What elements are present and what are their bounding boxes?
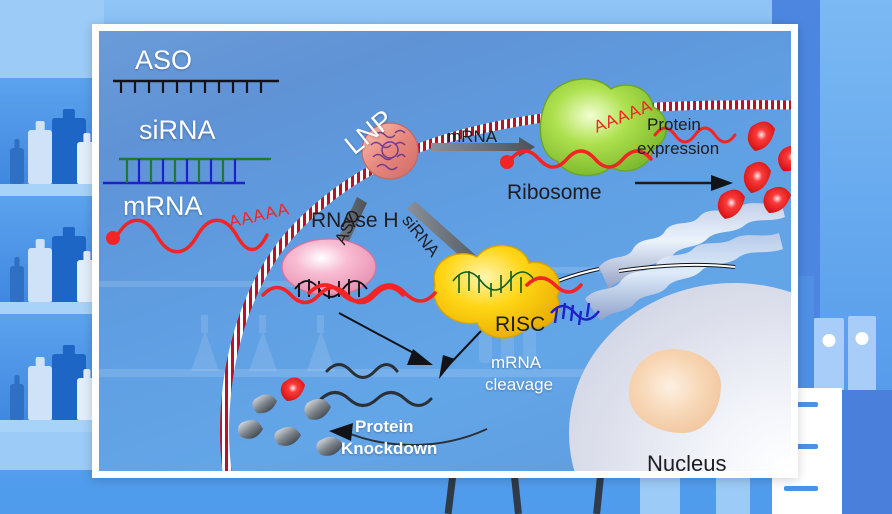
- protein-expression-label-line1: Protein: [647, 115, 701, 135]
- diagram-vector-layer: [99, 31, 791, 471]
- reagent-shelf-unit: [0, 0, 104, 470]
- cleaved-mrna-fragments: [321, 365, 431, 406]
- protein-expression-label-line2: expression: [637, 139, 719, 159]
- legend-label-mrna: mRNA: [123, 191, 203, 222]
- protein-knockdown-label-line1: Protein: [355, 417, 414, 437]
- mrna-cleavage-label-line1: mRNA: [491, 353, 541, 373]
- legend-label-sirna: siRNA: [139, 115, 216, 146]
- cell-interior: ASO siRNA mRNA AAAAA LNP ASO siRNA mRNA …: [99, 31, 791, 471]
- diagram-frame: ASO siRNA mRNA AAAAA LNP ASO siRNA mRNA …: [92, 24, 798, 478]
- cleavage-arrows: [339, 313, 481, 379]
- rnase-h-label: RNAse H: [311, 209, 399, 233]
- protein-knockdown-label-line2: Knockdown: [341, 439, 437, 459]
- mrna-cleavage-label-line2: cleavage: [485, 375, 553, 395]
- binder: [814, 318, 844, 392]
- legend-label-aso: ASO: [135, 45, 192, 76]
- ribosome-label: Ribosome: [507, 181, 602, 205]
- legend-sirna-molecule: [103, 159, 271, 183]
- endoplasmic-reticulum: [585, 201, 785, 321]
- mrna-arrow-label: mRNA: [447, 127, 497, 147]
- binder: [848, 316, 876, 392]
- illustration-stage: ASO siRNA mRNA AAAAA LNP ASO siRNA mRNA …: [0, 0, 892, 514]
- nucleus-label: Nucleus: [647, 451, 726, 471]
- legend-aso-molecule: [113, 81, 279, 93]
- risc-label: RISC: [495, 313, 545, 337]
